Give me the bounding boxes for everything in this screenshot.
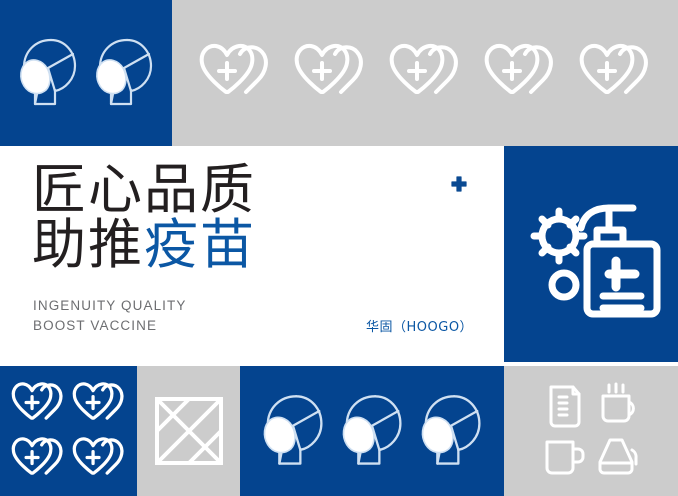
subhead-block: INGENUITY QUALITY BOOST VACCINE [33,296,186,337]
heart-plus-icon [196,42,274,104]
mug-icon [542,437,588,477]
masked-face-icon [337,390,407,472]
bottom-gray-right-panel [504,366,678,496]
steaming-cup-icon [595,383,641,429]
broken-image-placeholder-icon [153,395,225,467]
headline-line-2-dark: 助推 [32,213,144,276]
headline-panel: 匠心品质 助推疫苗 INGENUITY QUALITY BOOST VACCIN… [0,146,504,362]
heart-plus-icon [9,436,67,482]
kettle-icon [594,436,642,478]
beaker-icon [545,383,585,429]
masked-face-icon [416,390,486,472]
top-gray-panel [172,0,678,146]
heart-plus-icon [576,42,654,104]
masked-face-icon [258,390,328,472]
heart-plus-icon [9,381,67,427]
medical-plus-icon [450,176,468,194]
top-blue-panel [0,0,172,146]
bottom-gray-mid-panel [137,366,240,496]
poster-canvas: 匠心品质 助推疫苗 INGENUITY QUALITY BOOST VACCIN… [0,0,678,496]
right-blue-panel [504,146,678,362]
masked-face-icon [15,34,81,112]
headline-line-1: 匠心品质 [32,162,256,217]
heart-plus-icon [70,381,128,427]
headline-line-2-accent: 疫苗 [144,213,256,276]
brand-name: 华固（HOOGO） [366,316,473,335]
subhead-line-1: INGENUITY QUALITY [33,296,186,316]
bottom-blue-mid-panel [240,366,504,496]
bottom-blue-left-panel [0,366,137,496]
heart-plus-icon [291,42,369,104]
subhead-line-2: BOOST VACCINE [33,316,186,336]
sanitizer-bottle-icon [521,184,661,324]
headline-line-2: 助推疫苗 [32,217,256,272]
masked-face-icon [91,34,157,112]
heart-plus-icon [481,42,559,104]
headline-block: 匠心品质 助推疫苗 [32,162,256,272]
heart-plus-icon [70,436,128,482]
heart-plus-icon [386,42,464,104]
